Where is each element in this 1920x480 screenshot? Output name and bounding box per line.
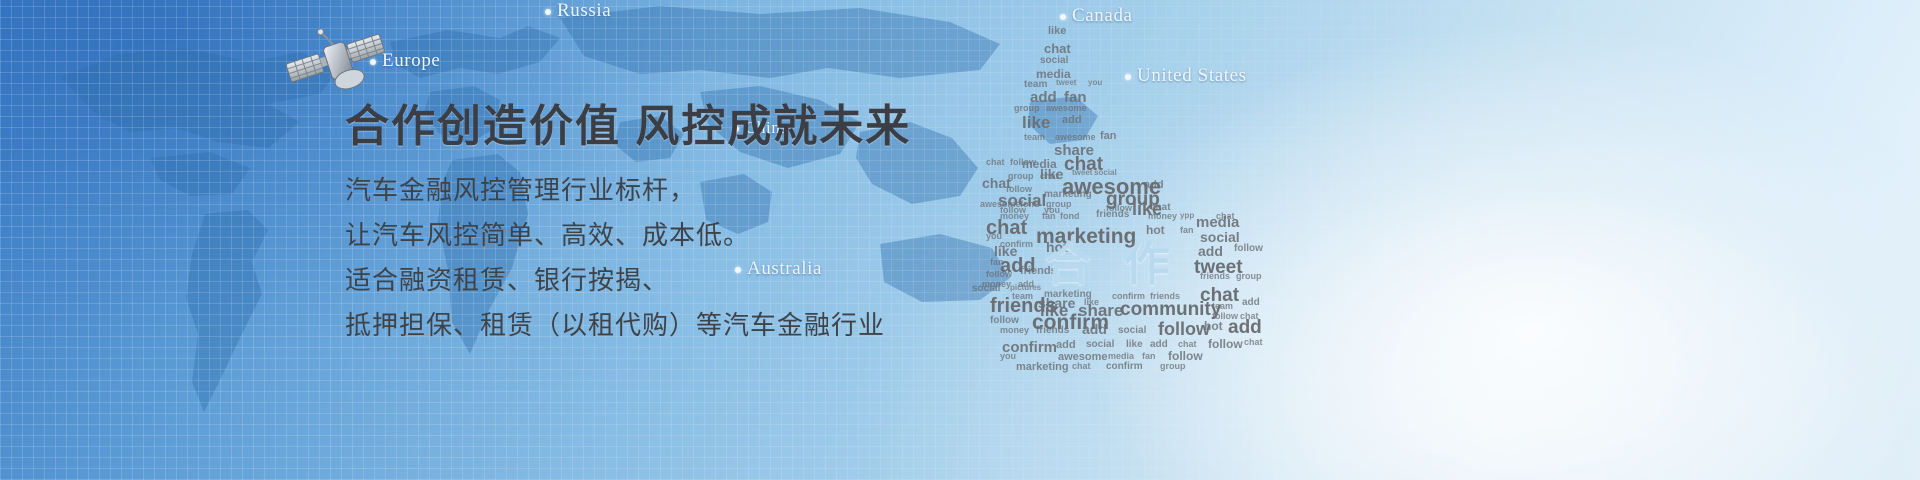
thumbs-up-wordcloud: likechatsocialmediateamtweetyouaddfangro… [950,0,1290,380]
geo-label-text: Europe [382,50,440,71]
wordcloud-word: chat [1216,212,1235,221]
wordcloud-word: chat [1178,340,1197,349]
wordcloud-word: community [1120,300,1221,319]
wordcloud-word: follow [1208,338,1243,350]
wordcloud-word: awesome [1046,104,1087,113]
wordcloud-word: fan [1142,352,1156,361]
wordcloud-word: money [1000,212,1029,221]
wordcloud-word: follow [1158,320,1210,338]
wordcloud-word: follow [1010,158,1036,167]
map-dot-icon [370,59,376,65]
wordcloud-word: awesome [1055,133,1096,142]
wordcloud-word: social [1200,230,1240,244]
wordcloud-word: chat [1072,362,1091,371]
wordcloud-word: friends [1096,210,1129,220]
wordcloud-word: like [1048,26,1066,37]
wordcloud-word: add [1062,115,1082,126]
wordcloud-word: group [1236,272,1262,281]
wordcloud-word: money [1148,212,1177,221]
wordcloud-word: confirm [1000,240,1033,249]
wordcloud-word: media [1108,352,1134,361]
wordcloud-word: tweet [1056,79,1076,87]
wordcloud-word: money [1000,326,1029,335]
wordcloud-word: team [1024,133,1045,142]
wordcloud-word: chat [986,158,1005,167]
wordcloud-word: add [1056,340,1076,351]
wordcloud-word: confirm [1106,362,1143,372]
thumbs-up-icon [1900,0,1920,380]
geo-label-text: Russia [557,0,611,21]
wordcloud-word: follow [986,270,1012,279]
wordcloud-word: group [1046,200,1072,209]
wordcloud-word: hot [1204,320,1223,332]
wordcloud-word: friends [1036,326,1069,336]
wordcloud-word: add [1242,298,1260,308]
wordcloud-word: social [1118,326,1146,336]
wordcloud-word: social [1040,56,1068,66]
wordcloud-word: add [1228,318,1262,337]
wordcloud-word: ypp [1180,212,1194,220]
hero-banner: RussiaCanadaEuropeUnited StatesChinaAust… [0,0,1920,480]
wordcloud-word: fond [1020,200,1040,209]
wordcloud-word: add [1150,340,1168,350]
wordcloud-word: group [1014,104,1040,113]
wordcloud-word: social [1086,340,1114,350]
wordcloud-word: add [1198,244,1223,258]
wordcloud-word: fan [1100,131,1117,142]
wordcloud-word: fond [1060,212,1080,221]
wordcloud-word: chat [1040,172,1059,181]
wordcloud-word: you [1000,352,1016,361]
wordcloud-word: fan [1180,226,1194,235]
wordcloud-word: awesome [980,200,1021,209]
wordcloud-word: group [1160,362,1186,371]
wordcloud-word: add [1144,180,1164,191]
wordcloud-word: group [1008,172,1034,181]
wordcloud-word: team [1212,302,1233,311]
cooperation-label: 合 作 [1045,228,1180,294]
geo-label-europe: Europe [370,50,440,72]
wordcloud-word: fan [1042,212,1056,221]
wordcloud-word: you [1088,79,1102,87]
wordcloud-word: follow [1006,185,1032,194]
wordcloud-word: social [1094,169,1117,177]
wordcloud-word: follow [1234,244,1263,254]
wordcloud-word: social [972,284,1000,294]
wordcloud-word: add [1082,322,1107,336]
wordcloud-word: tweet [1072,169,1092,177]
map-dot-icon [545,9,551,15]
geo-label-russia: Russia [545,0,611,22]
wordcloud-word: chat [1044,42,1071,55]
wordcloud-word: friends [1200,272,1230,281]
wordcloud-word: chat [1244,338,1263,347]
wordcloud-word: like [1126,340,1143,350]
wordcloud-word: like [1022,114,1050,131]
wordcloud-word: marketing [1016,362,1069,373]
